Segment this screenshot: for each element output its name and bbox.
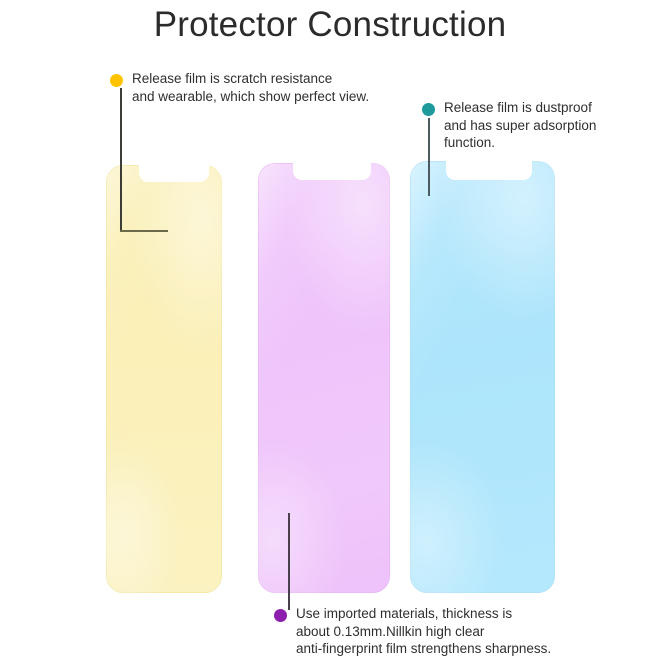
diagram-canvas: Protector Construction Release film is s… bbox=[0, 0, 660, 660]
film-layer-pink bbox=[258, 163, 390, 593]
film-body-blue bbox=[410, 161, 555, 593]
page-title: Protector Construction bbox=[0, 5, 660, 45]
leader-line-yellow-horizontal bbox=[120, 230, 168, 232]
bullet-dot-icon-yellow bbox=[110, 74, 123, 87]
bullet-dot-icon-purple bbox=[274, 609, 287, 622]
film-notch-yellow bbox=[139, 164, 209, 182]
leader-line-teal bbox=[428, 118, 430, 196]
film-notch-pink bbox=[293, 162, 371, 180]
film-layer-blue bbox=[410, 161, 555, 593]
leader-line-purple bbox=[288, 513, 290, 610]
callout-text-dustproof: Release film is dustproof and has super … bbox=[444, 99, 660, 152]
callout-text-scratch-resistance: Release film is scratch resistance and w… bbox=[132, 70, 432, 105]
bullet-dot-icon-teal bbox=[422, 103, 435, 116]
callout-text-imported-materials: Use imported materials, thickness is abo… bbox=[296, 605, 636, 658]
leader-line-yellow-vertical bbox=[120, 88, 122, 231]
film-body-pink bbox=[258, 163, 390, 593]
film-notch-blue bbox=[446, 160, 532, 180]
